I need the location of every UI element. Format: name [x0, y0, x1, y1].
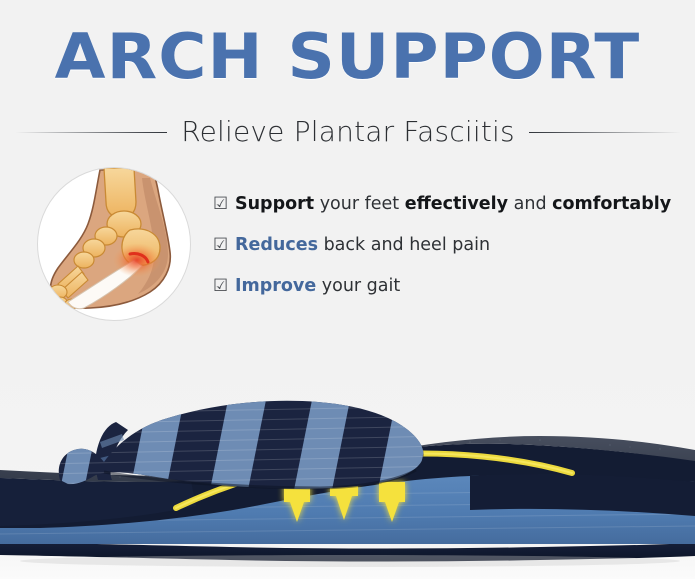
benefit-part: effectively	[405, 194, 508, 214]
list-item: ☑ Improve your gait	[213, 275, 691, 316]
checkbox-checked-icon: ☑	[213, 235, 235, 255]
list-item: ☑ Reduces back and heel pain	[213, 234, 691, 275]
benefit-part: your gait	[316, 276, 400, 296]
checkbox-checked-icon: ☑	[213, 276, 235, 296]
benefit-part: comfortably	[552, 194, 671, 214]
flip-flop-side-view	[0, 330, 695, 579]
benefit-text: Reduces back and heel pain	[235, 234, 490, 256]
page-title: ARCH SUPPORT	[0, 24, 695, 90]
divider-line-right	[529, 132, 681, 133]
plantar-fasciitis-foot-icon	[38, 168, 190, 320]
list-item: ☑ Support your feet effectively and comf…	[213, 193, 691, 234]
benefit-part: your feet	[314, 194, 405, 214]
benefit-part: and	[508, 194, 552, 214]
divider-line-left	[15, 132, 167, 133]
benefit-part: back and heel pain	[318, 235, 490, 255]
page-subtitle: Relieve Plantar Fasciitis	[181, 117, 515, 147]
benefit-text: Improve your gait	[235, 275, 400, 297]
benefit-text: Support your feet effectively and comfor…	[235, 193, 671, 215]
subtitle-row: Relieve Plantar Fasciitis	[58, 113, 638, 151]
benefit-part: Improve	[235, 276, 316, 296]
checkbox-checked-icon: ☑	[213, 194, 235, 214]
benefit-part: Support	[235, 194, 314, 214]
product-image-flip-flop	[0, 330, 695, 579]
benefit-part: Reduces	[235, 235, 318, 255]
benefits-list: ☑ Support your feet effectively and comf…	[213, 193, 691, 316]
product-feature-image: ARCH SUPPORT Relieve Plantar Fasciitis	[0, 0, 695, 579]
foot-anatomy-illustration	[37, 167, 191, 321]
